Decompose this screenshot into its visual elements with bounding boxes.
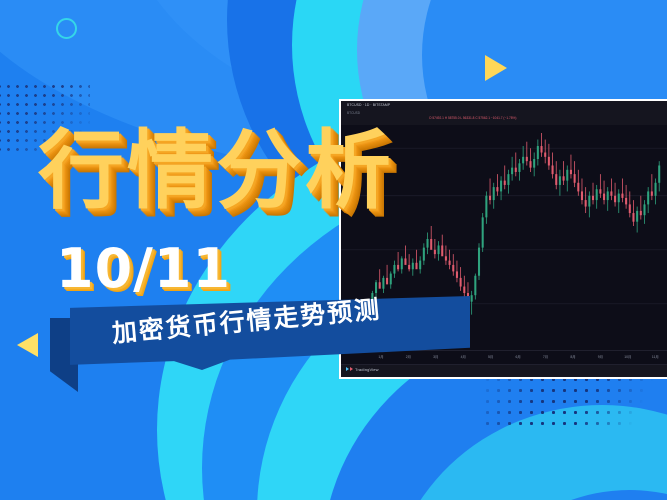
circle-outline-icon	[56, 18, 77, 39]
x-axis-tick: 7月	[543, 354, 548, 359]
x-axis-tick: 9月	[598, 354, 603, 359]
x-axis-tick: 10月	[624, 354, 631, 359]
date-label: 10/11	[56, 242, 231, 296]
triangle-right-icon	[485, 55, 507, 81]
triangle-left-icon	[17, 333, 38, 357]
chart-symbol-label: BTCUSD · 1D · BITSTAMP	[347, 103, 390, 107]
x-axis-tick: 11月	[652, 354, 659, 359]
chart-interval-label: BTCUSD	[347, 111, 360, 115]
x-axis-tick: 6月	[515, 354, 520, 359]
chart-ohlc-readout: O 57492.1 H 58755.0 L 56331.8 C 57562.1 …	[429, 116, 516, 120]
ribbon-banner: 加密货币行情走势预测	[50, 296, 470, 392]
poster-canvas: BTCUSD · 1D · BITSTAMP BTCUSD O 57492.1 …	[0, 0, 667, 500]
x-axis-tick: 5月	[488, 354, 493, 359]
x-axis-tick: 8月	[570, 354, 575, 359]
page-title: 行情分析	[38, 128, 394, 214]
